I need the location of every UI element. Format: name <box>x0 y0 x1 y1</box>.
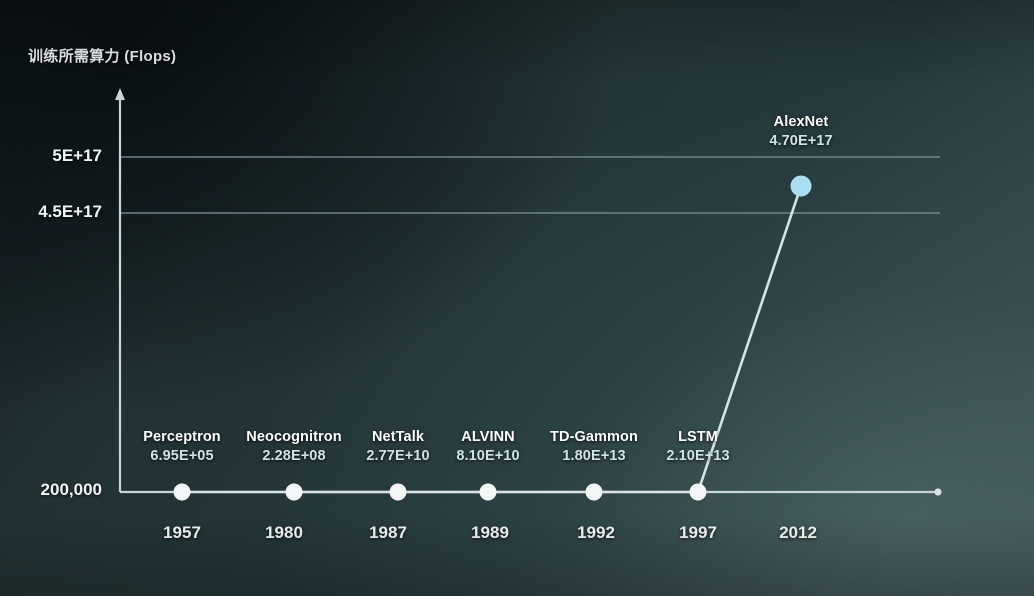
data-point-marker-highlight[interactable] <box>791 176 812 197</box>
x-axis-endpoint-icon <box>934 488 941 495</box>
point-value: 2.10E+13 <box>623 447 773 466</box>
data-point-marker[interactable] <box>390 484 407 501</box>
y-axis-arrow-icon <box>115 88 125 100</box>
point-name: AlexNet <box>726 113 876 132</box>
y-tick-label: 200,000 <box>0 480 102 500</box>
x-tick-label-1987: 1987 <box>333 523 443 543</box>
x-tick-label-2012: 2012 <box>743 523 853 543</box>
point-annotation-alexnet: AlexNet 4.70E+17 <box>726 113 876 151</box>
point-annotation-lstm: LSTM 2.10E+13 <box>623 428 773 466</box>
y-tick-label: 4.5E+17 <box>0 202 102 222</box>
data-point-marker[interactable] <box>690 484 707 501</box>
data-point-marker[interactable] <box>286 484 303 501</box>
data-point-marker[interactable] <box>586 484 603 501</box>
x-tick-label-1992: 1992 <box>541 523 651 543</box>
point-value: 4.70E+17 <box>726 132 876 151</box>
gridlines <box>120 157 940 213</box>
x-tick-label-1989: 1989 <box>435 523 545 543</box>
data-point-marker[interactable] <box>174 484 191 501</box>
x-tick-label-1980: 1980 <box>229 523 339 543</box>
point-name: LSTM <box>623 428 773 447</box>
x-tick-label-1997: 1997 <box>643 523 753 543</box>
chart-graphics <box>0 0 1034 596</box>
chart-canvas: 训练所需算力 (Flops) 5E+17 <box>0 0 1034 596</box>
data-point-marker[interactable] <box>480 484 497 501</box>
y-tick-label: 5E+17 <box>0 146 102 166</box>
x-tick-label-1957: 1957 <box>127 523 237 543</box>
